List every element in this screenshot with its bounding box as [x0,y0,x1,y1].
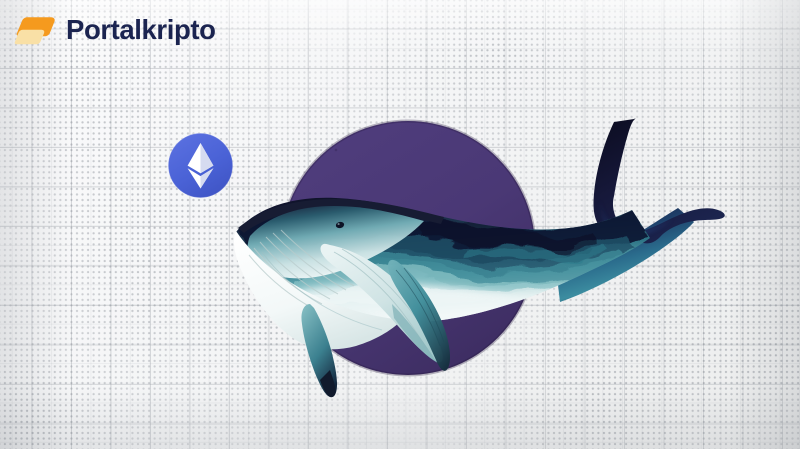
ethereum-coin-icon [167,132,234,199]
banner-image: Portalkripto [0,0,800,449]
portalkripto-slab-mark-icon [14,13,58,47]
site-logo[interactable]: Portalkripto [14,13,216,47]
whale-eye-highlight [338,223,340,225]
whale-artwork [0,0,800,449]
site-logo-text: Portalkripto [66,16,216,44]
